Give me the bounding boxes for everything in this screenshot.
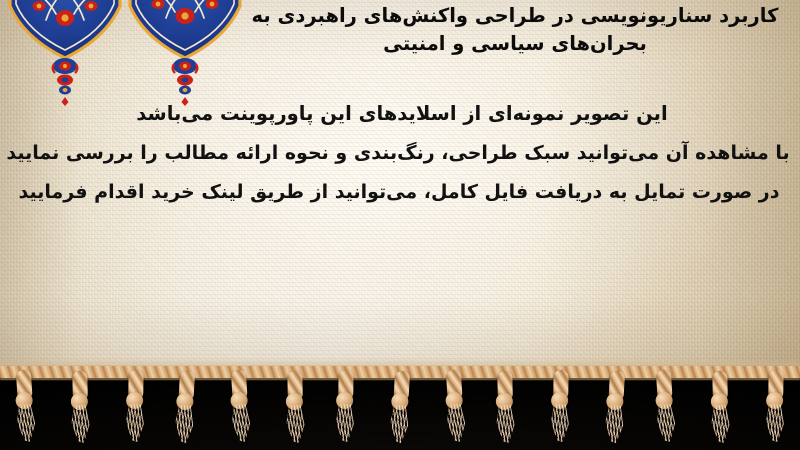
fringe-tassel bbox=[333, 370, 356, 444]
tassel-brush bbox=[230, 403, 252, 442]
tassel-brush bbox=[655, 403, 677, 442]
fringe-tassel bbox=[442, 369, 468, 444]
tassel-brush bbox=[710, 405, 731, 443]
fringe-tassel bbox=[124, 370, 147, 444]
fringe-tassel bbox=[284, 371, 307, 445]
medallion-pendant-icon bbox=[50, 56, 80, 106]
fringe-tassel bbox=[548, 370, 571, 444]
tassel-brush bbox=[70, 405, 91, 443]
body-line-1: این تصویر نمونه‌ای از اسلایدهای این پاور… bbox=[0, 104, 792, 124]
fringe-tassel bbox=[387, 370, 413, 445]
fringe-tassel bbox=[652, 369, 678, 444]
fringe-tassel bbox=[172, 370, 198, 445]
body-line-3: در صورت تمایل به دریافت فایل کامل، می‌تو… bbox=[0, 183, 792, 202]
fringe-tassel bbox=[708, 371, 731, 445]
tassel-brush bbox=[445, 403, 467, 442]
tassel-brush bbox=[173, 404, 195, 443]
slide-canvas: کاربرد سناریونویسی در طراحی واکنش‌های را… bbox=[0, 0, 800, 450]
slide-body-text: این تصویر نمونه‌ای از اسلایدهای این پاور… bbox=[0, 104, 800, 202]
tassel-brush bbox=[334, 404, 355, 442]
fringe-tassel bbox=[764, 370, 787, 444]
fringe-tassel bbox=[493, 371, 516, 445]
medallion-pendant-icon bbox=[170, 56, 200, 106]
tassel-brush bbox=[125, 404, 146, 442]
tassel-brush bbox=[388, 404, 410, 443]
tassel-brush bbox=[285, 405, 306, 443]
tassel-brush bbox=[495, 405, 516, 443]
tassel-brush bbox=[15, 403, 37, 442]
tassel-brush bbox=[603, 404, 625, 443]
fringe-tassel bbox=[227, 369, 253, 444]
tassel-brush bbox=[549, 404, 570, 442]
fringe-tassel bbox=[602, 370, 628, 445]
slide-title: کاربرد سناریونویسی در طراحی واکنش‌های را… bbox=[0, 2, 800, 57]
tassel-brush bbox=[765, 404, 786, 442]
body-line-2: با مشاهده آن می‌توانید سبک طراحی، رنگ‌بن… bbox=[0, 144, 792, 163]
fringe-tassel bbox=[12, 369, 38, 444]
fringe-tassel bbox=[68, 371, 91, 445]
